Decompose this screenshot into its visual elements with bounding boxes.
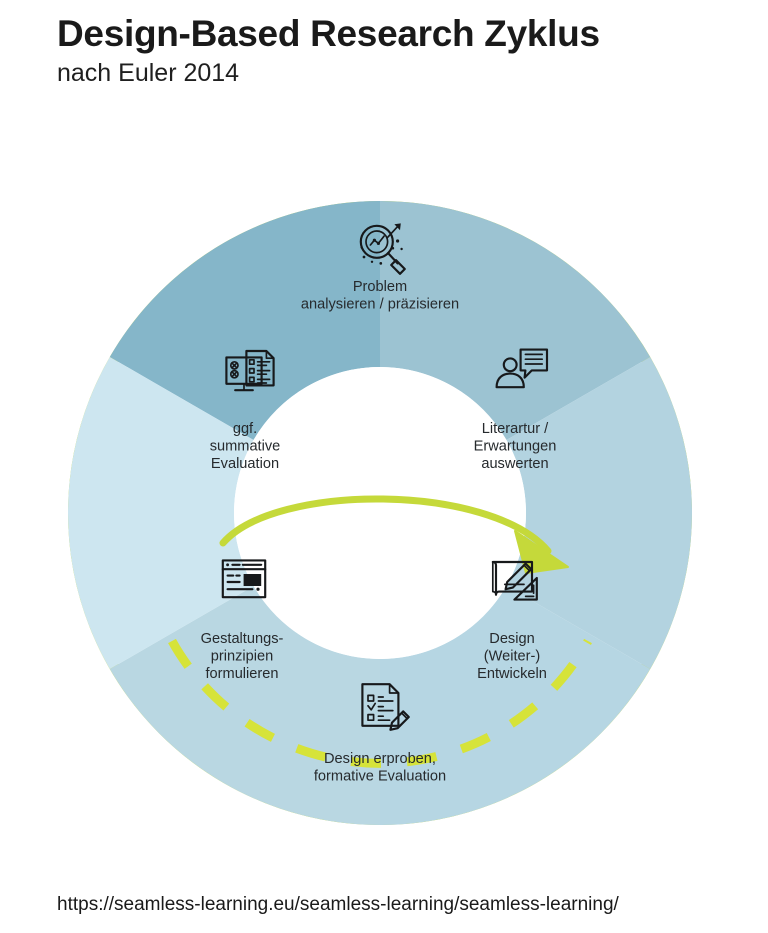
segment-label-design-test: Design erproben,formative Evaluation [314,751,446,785]
infographic-page: Design-Based Research Zyklus nach Euler … [0,0,768,933]
page-subtitle: nach Euler 2014 [57,59,737,88]
page-title: Design-Based Research Zyklus [57,14,737,55]
cycle-diagram-svg: Problemanalysieren / präzisierenLiterart… [60,193,700,833]
segment-label-design-principles: Gestaltungs-prinzipienformulieren [201,631,284,682]
cycle-diagram: Problemanalysieren / präzisierenLiterart… [60,193,700,833]
title-block: Design-Based Research Zyklus nach Euler … [57,14,737,87]
monitor-checklist-icon [226,351,273,390]
source-url: https://seamless-learning.eu/seamless-le… [57,894,619,916]
segment-label-literature: Literartur /Erwartungenauswerten [474,421,557,472]
